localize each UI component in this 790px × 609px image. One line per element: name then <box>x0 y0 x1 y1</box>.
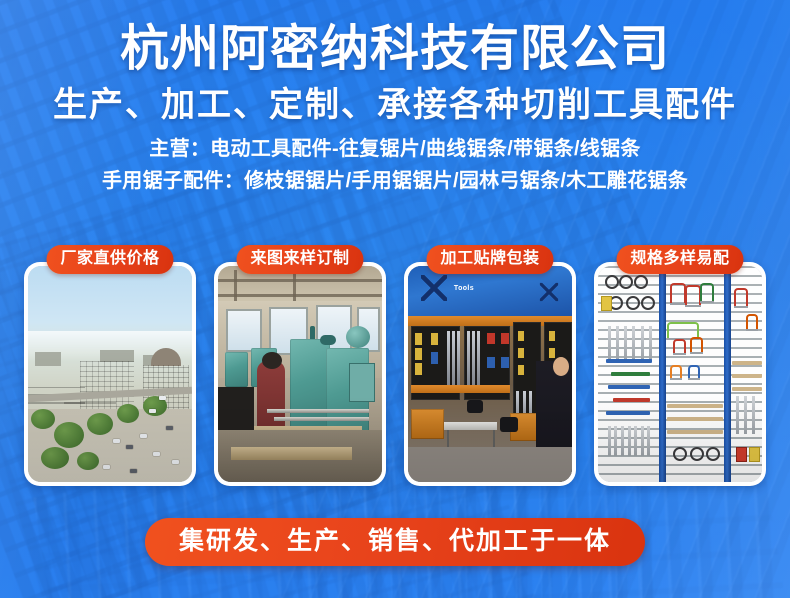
feature-card[interactable]: 厂家直供价格 <box>24 262 196 486</box>
headline-block: 杭州阿密纳科技有限公司 生产、加工、定制、承接各种切削工具配件 主营：电动工具配… <box>0 22 790 195</box>
card-badge-label: 厂家直供价格 <box>46 245 173 274</box>
workshop-machining-photo <box>218 266 382 482</box>
feature-card[interactable]: 来图来样订制 <box>214 262 386 486</box>
exhibition-booth-photo: Tools <box>408 266 572 482</box>
feature-card[interactable]: 规格多样易配 <box>594 262 766 486</box>
company-name: 杭州阿密纳科技有限公司 <box>14 22 776 77</box>
card-badge-label: 加工贴牌包装 <box>426 245 553 274</box>
feature-card[interactable]: 加工贴牌包装 Tools <box>404 262 576 486</box>
promo-banner: 杭州阿密纳科技有限公司 生产、加工、定制、承接各种切削工具配件 主营：电动工具配… <box>0 0 790 609</box>
footer-slogan-text: 集研发、生产、销售、代加工于一体 <box>179 527 611 555</box>
feature-card-row: 厂家直供价格 <box>24 262 766 486</box>
booth-banner-text: Tools <box>454 285 474 292</box>
bottom-white-strip <box>0 598 790 609</box>
footer-slogan-pill: 集研发、生产、销售、代加工于一体 <box>145 518 645 566</box>
product-line-1: 主营：电动工具配件-往复锯片/曲线锯条/带锯条/线锯条 <box>14 136 776 163</box>
aerial-factory-campus-photo <box>28 266 192 482</box>
tool-display-wall-photo <box>598 266 762 482</box>
tagline: 生产、加工、定制、承接各种切削工具配件 <box>14 85 776 125</box>
card-badge-label: 来图来样订制 <box>236 245 363 274</box>
product-line-2: 手用锯子配件：修枝锯锯片/手用锯锯片/园林弓锯条/木工雕花锯条 <box>14 168 776 195</box>
card-badge-label: 规格多样易配 <box>616 245 743 274</box>
